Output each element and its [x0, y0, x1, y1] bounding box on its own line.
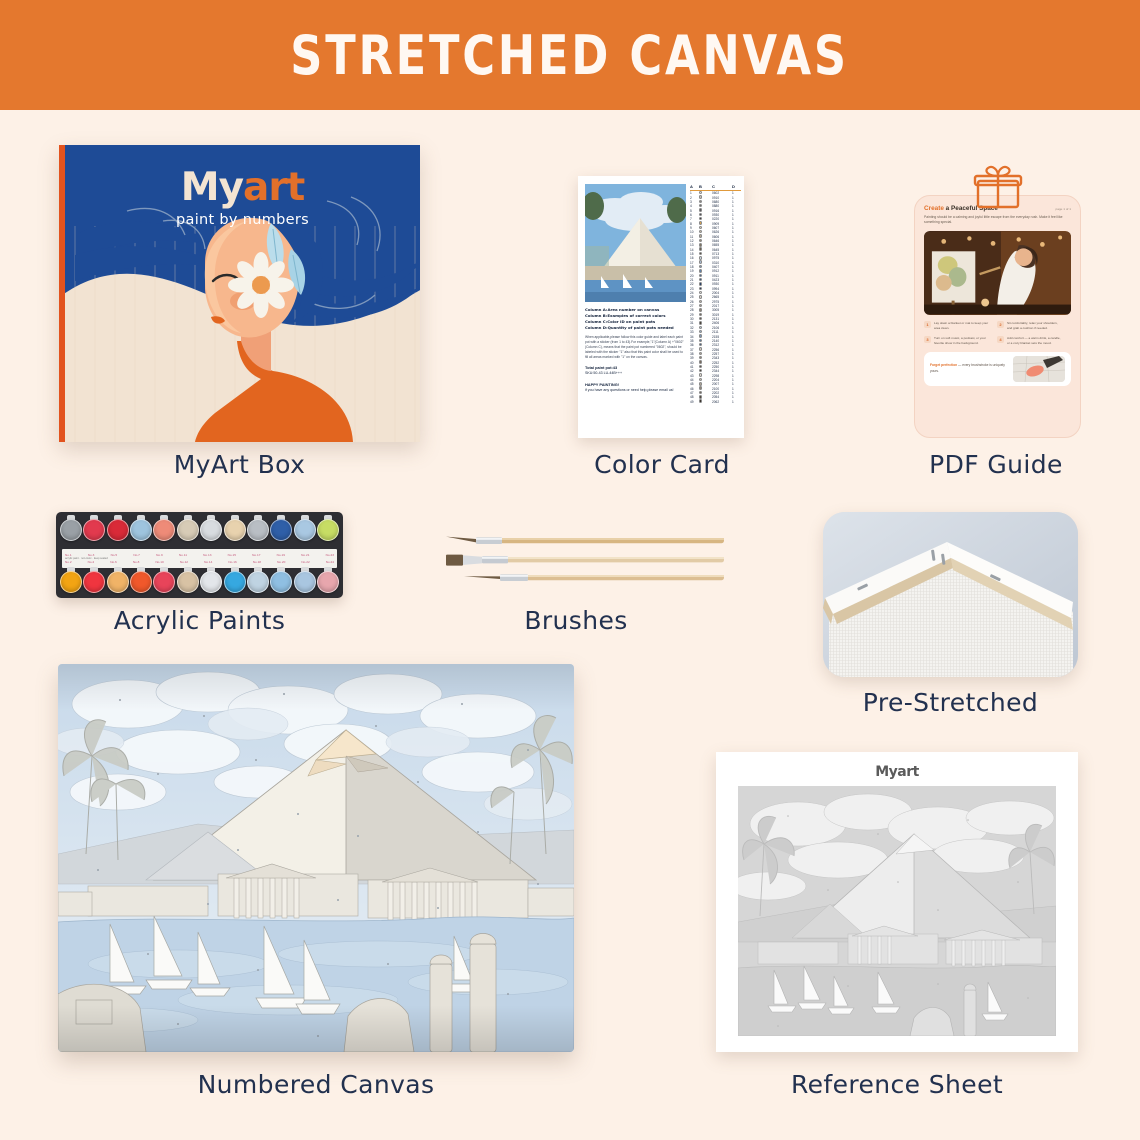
pdf-guide-tip: 2Sit comfortably, relax your shoulders, … [997, 321, 1063, 331]
paint-pot-row-bottom [60, 569, 339, 600]
header-a: A [690, 184, 699, 189]
paint-pot [270, 517, 292, 548]
paint-pot [317, 517, 339, 548]
pdf-guide-note-accent: Forget perfection [930, 363, 957, 367]
tip-number: 2 [997, 321, 1004, 328]
paint-pot-lid [177, 571, 199, 593]
reference-sheet-scene [738, 786, 1056, 1036]
paint-pot [224, 517, 246, 548]
cell-colorid: 2062 [712, 400, 732, 404]
color-card-table-body: 1060212091013068014088015091616093017022… [690, 191, 741, 404]
paint-pot-lid [317, 571, 339, 593]
pdf-guide-page-label: page 1 of 1 [1056, 207, 1071, 211]
paint-pot [153, 569, 175, 600]
label-numbers-bottom: No.2No.4No.6No.8No.10No.12No.14No.16No.1… [65, 560, 334, 564]
color-card-pyramid-scene [585, 184, 686, 302]
paint-pot-label-strip: No.1No.3No.5No.7No.9No.11No.13No.15No.17… [62, 549, 337, 568]
box-logo: Myart paint by numbers [65, 165, 420, 228]
pdf-guide-tip: 3Turn on soft music, a podcast, or your … [924, 336, 990, 346]
numbered-canvas-image [58, 664, 574, 1052]
pot-number-label: No.16 [228, 560, 236, 564]
paint-pot [317, 569, 339, 600]
color-card-sku: SKU:50-43 LU-44B+++ [585, 371, 686, 376]
paint-pot-lid [60, 571, 82, 593]
pdf-guide-image: Create a Peaceful Space page 1 of 1 Pain… [914, 195, 1081, 438]
pot-number-label: No.24 [326, 560, 334, 564]
paint-pot-lid [153, 571, 175, 593]
color-card-happy: HAPPY PAINTING! [585, 382, 686, 387]
paint-pot [83, 569, 105, 600]
caption-pdf-guide: PDF Guide [872, 450, 1120, 479]
myart-box-image: Myart paint by numbers [59, 145, 420, 442]
color-card-table-header: A B C D [690, 184, 741, 191]
page-title: STRETCHED CANVAS [291, 24, 850, 87]
color-card-photo [585, 184, 686, 302]
pot-number-label: No.6 [110, 560, 117, 564]
paint-pot-lid [153, 519, 175, 541]
cell-area: 49 [690, 400, 699, 404]
paint-pot [247, 517, 269, 548]
caption-myart-box: MyArt Box [59, 450, 420, 479]
paint-pot-lid [270, 519, 292, 541]
caption-numbered-canvas: Numbered Canvas [58, 1070, 574, 1099]
tip-text: Sit comfortably, relax your shoulders, a… [1007, 321, 1063, 331]
pot-number-label: No.18 [253, 560, 261, 564]
paint-pot [177, 569, 199, 600]
pdf-guide-subtitle: Painting should be a calming and joyful … [924, 215, 1071, 226]
caption-reference-sheet: Reference Sheet [716, 1070, 1078, 1099]
pot-number-label: No.12 [180, 560, 188, 564]
paint-pot-lid [270, 571, 292, 593]
paint-pot-lid [247, 571, 269, 593]
color-card-image: Column A:Area number on canvas Column B:… [578, 176, 744, 438]
paint-pot [130, 517, 152, 548]
paint-pot-lid [224, 571, 246, 593]
paint-pot [83, 517, 105, 548]
pre-stretched-image [823, 512, 1078, 677]
paint-pot-row-top [60, 517, 339, 548]
pdf-guide-content: Create a Peaceful Space page 1 of 1 Pain… [924, 205, 1071, 428]
gift-icon [968, 163, 1028, 211]
paint-pot [107, 569, 129, 600]
brush-flat-wide [446, 555, 724, 566]
logo-art-text: art [243, 165, 304, 210]
pdf-guide-title-accent: Create [924, 205, 944, 212]
paint-pot-lid [83, 519, 105, 541]
paint-pot [153, 517, 175, 548]
tip-text: Lay down a blanket or mat to keep your a… [934, 321, 990, 331]
box-logo-wordmark: Myart [65, 165, 420, 210]
pot-number-label: No.2 [65, 560, 72, 564]
paint-pot [200, 569, 222, 600]
pdf-guide-photo [924, 231, 1071, 315]
box-tagline: paint by numbers [65, 212, 420, 228]
pdf-guide-tip: 1Lay down a blanket or mat to keep your … [924, 321, 990, 331]
paint-pot-lid [107, 519, 129, 541]
paint-pot [177, 517, 199, 548]
page-header: STRETCHED CANVAS [0, 0, 1140, 110]
pdf-guide-painting-scene [924, 231, 1071, 315]
paint-pot-lid [294, 519, 316, 541]
pdf-guide-tips: 1Lay down a blanket or mat to keep your … [924, 321, 1071, 346]
color-card-left-column: Column A:Area number on canvas Column B:… [585, 184, 686, 433]
legend-line-d: Column D:Quantity of paint pots needed [585, 325, 686, 331]
color-card-row: 4920621 [690, 400, 741, 404]
pdf-guide-note-image [1013, 356, 1065, 382]
pot-number-label: No.14 [204, 560, 212, 564]
paint-pot [60, 517, 82, 548]
paint-pot-lid [83, 571, 105, 593]
color-card-contact: if you have any questions or need help,p… [585, 388, 686, 392]
pot-number-label: No.4 [88, 560, 95, 564]
header-c: C [712, 184, 732, 189]
pot-number-label: No.20 [277, 560, 285, 564]
tip-number: 4 [997, 336, 1004, 343]
pot-number-label: No.22 [301, 560, 309, 564]
color-card-table: A B C D 10602120910130680140880150916160… [690, 184, 741, 433]
paint-pot [130, 569, 152, 600]
acrylic-paints-image: No.1No.3No.5No.7No.9No.11No.13No.15No.17… [56, 512, 343, 598]
paint-pot-lid [107, 571, 129, 593]
paint-pot-lid [130, 519, 152, 541]
paint-pot [270, 569, 292, 600]
pdf-guide-note-text: Forget perfection — every brushstroke is… [930, 363, 1008, 374]
tip-number: 1 [924, 321, 931, 328]
paint-pot-lid [294, 571, 316, 593]
color-card-instructions: When applicable,please follow this color… [585, 335, 686, 361]
brushes-illustration [428, 527, 724, 593]
pot-number-label: No.10 [155, 560, 163, 564]
cell-swatch [699, 399, 712, 403]
color-card-legend: Column A:Area number on canvas Column B:… [585, 307, 686, 331]
logo-my-text: My [181, 165, 243, 210]
cell-qty: 1 [732, 400, 741, 404]
caption-brushes: Brushes [428, 606, 724, 635]
tip-text: Turn on soft music, a podcast, or your f… [934, 336, 990, 346]
reference-sheet-image: Myart [716, 752, 1078, 1052]
paint-pot [294, 517, 316, 548]
canvas-corner-photo [823, 512, 1078, 677]
paint-pot [294, 569, 316, 600]
caption-acrylic-paints: Acrylic Paints [56, 606, 343, 635]
paint-pot-lid [130, 571, 152, 593]
caption-color-card: Color Card [540, 450, 784, 479]
paint-pot [224, 569, 246, 600]
reference-sheet-image-area [738, 786, 1056, 1036]
paint-pot [200, 517, 222, 548]
numbered-canvas-scene [58, 664, 574, 1052]
paint-pot-lid [224, 519, 246, 541]
paint-pot-lid [200, 571, 222, 593]
paint-pot-lid [60, 519, 82, 541]
caption-pre-stretched: Pre-Stretched [823, 688, 1078, 717]
pdf-guide-tip: 4Add comfort — a warm drink, a candle, o… [997, 336, 1063, 346]
paint-pot-lid [177, 519, 199, 541]
header-d: D [732, 184, 741, 189]
paint-pot [247, 569, 269, 600]
paint-pot [60, 569, 82, 600]
brushes-image [428, 527, 724, 593]
paint-pot-lid [247, 519, 269, 541]
brush-round-fine [446, 537, 724, 544]
paint-pot-lid [200, 519, 222, 541]
paint-pot-lid [317, 519, 339, 541]
tip-number: 3 [924, 336, 931, 343]
header-b: B [699, 184, 712, 189]
pot-number-label: No.8 [133, 560, 140, 564]
brush-stroke-closeup [1013, 356, 1065, 382]
brush-liner-thin [464, 574, 724, 581]
tip-text: Add comfort — a warm drink, a candle, or… [1007, 336, 1063, 346]
reference-sheet-logo: Myart [738, 764, 1056, 780]
paint-pot [107, 517, 129, 548]
pdf-guide-note: Forget perfection — every brushstroke is… [924, 352, 1071, 386]
